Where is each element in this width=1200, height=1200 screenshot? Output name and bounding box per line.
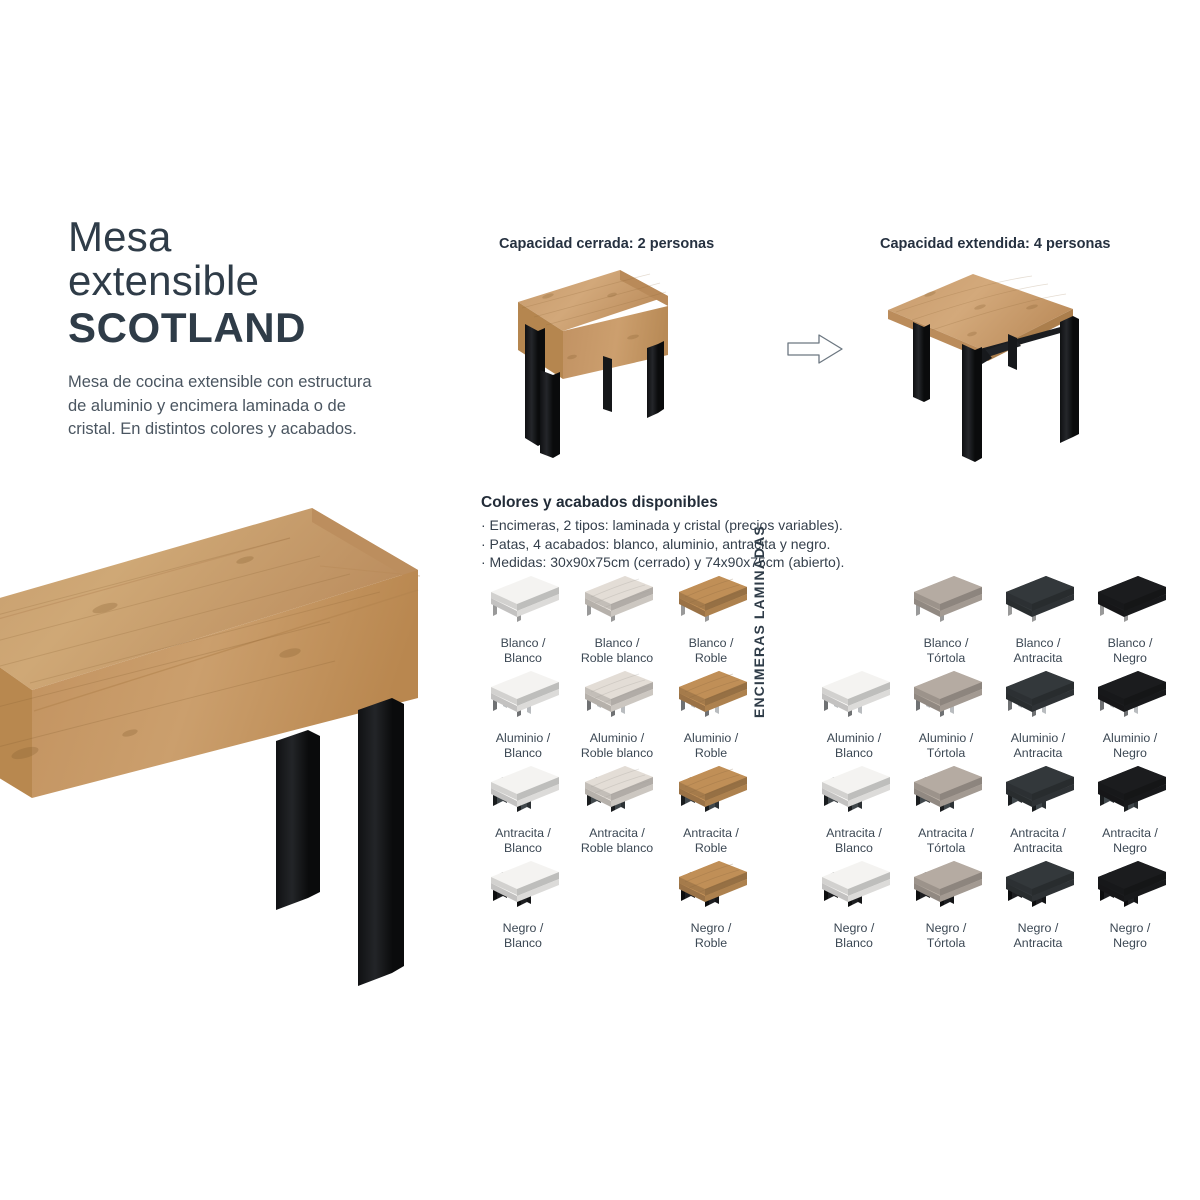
bullet-medidas: · Medidas: 30x90x75cm (cerrado) y 74x90x… [481,553,844,572]
arrow-right-icon [786,332,844,366]
finish-swatch[interactable]: Blanco / Blanco [481,570,565,665]
finish-label: Negro / Antracita [996,921,1080,950]
table-thumbnail-icon [487,570,559,632]
finish-label: Aluminio / Blanco [812,731,896,760]
table-thumbnail-icon [487,665,559,727]
finish-swatch[interactable]: Negro / Tórtola [904,855,988,950]
finish-label: Negro / Negro [1088,921,1172,950]
table-thumbnail-icon [1002,855,1074,917]
finish-label: Negro / Blanco [812,921,896,950]
finish-label: Antracita / Blanco [481,826,565,855]
finish-label: Blanco / Antracita [996,636,1080,665]
table-closed-illustration [500,262,750,477]
finish-label: Aluminio / Antracita [996,731,1080,760]
bullet-patas: · Patas, 4 acabados: blanco, aluminio, a… [481,535,844,554]
finish-label: Aluminio / Tórtola [904,731,988,760]
table-thumbnail-icon [1002,665,1074,727]
finish-swatch[interactable]: Negro / Negro [1088,855,1172,950]
finish-label: Blanco / Roble [669,636,753,665]
table-thumbnail-icon [581,665,653,727]
table-thumbnail-icon [910,855,982,917]
finish-swatch[interactable]: Blanco / Antracita [996,570,1080,665]
product-description: Mesa de cocina extensible con estructura… [68,371,388,442]
finish-swatch[interactable]: Aluminio / Roble [669,665,753,760]
table-thumbnail-icon [675,665,747,727]
finish-swatch[interactable]: Blanco / Roble blanco [575,570,659,665]
table-thumbnail-icon [1094,855,1166,917]
table-thumbnail-icon [487,855,559,917]
finish-label: Antracita / Roble [669,826,753,855]
title-line-3-model: SCOTLAND [68,303,448,353]
finish-label: Negro / Blanco [481,921,565,950]
finish-swatch[interactable]: Antracita / Blanco [812,760,896,855]
finish-swatch[interactable]: Negro / Antracita [996,855,1080,950]
table-thumbnail-icon [675,570,747,632]
bullet-encimeras: · Encimeras, 2 tipos: laminada y cristal… [481,516,844,535]
finish-swatch[interactable]: Antracita / Blanco [481,760,565,855]
table-thumbnail-icon [818,760,890,822]
finish-label: Aluminio / Negro [1088,731,1172,760]
table-thumbnail-icon [910,570,982,632]
table-thumbnail-icon [1002,570,1074,632]
title-line-1: Mesa [68,215,448,259]
table-thumbnail-icon [675,760,747,822]
finish-label: Antracita / Negro [1088,826,1172,855]
finish-label: Antracita / Tórtola [904,826,988,855]
finish-swatch[interactable]: Aluminio / Blanco [812,665,896,760]
finish-label: Negro / Roble [669,921,753,950]
finish-swatch[interactable]: Negro / Roble [669,855,753,950]
finish-label: Antracita / Roble blanco [575,826,659,855]
table-thumbnail-icon [1094,760,1166,822]
finish-swatch[interactable]: Antracita / Tórtola [904,760,988,855]
finish-swatch[interactable]: Aluminio / Tórtola [904,665,988,760]
finish-swatch[interactable]: Antracita / Negro [1088,760,1172,855]
finish-swatch[interactable]: Blanco / Negro [1088,570,1172,665]
finish-swatch[interactable]: Negro / Blanco [481,855,565,950]
hero-product-image [0,498,460,998]
encimeras-laminadas-label: ENCIMERAS LAMINADAS [751,525,767,718]
finish-swatch[interactable]: Antracita / Antracita [996,760,1080,855]
section-bullets: · Encimeras, 2 tipos: laminada y cristal… [481,516,844,572]
finish-label: Blanco / Roble blanco [575,636,659,665]
finish-label: Negro / Tórtola [904,921,988,950]
finish-swatch[interactable]: Negro / Blanco [812,855,896,950]
table-thumbnail-icon [1094,665,1166,727]
table-thumbnail-icon [1094,570,1166,632]
finish-label: Blanco / Negro [1088,636,1172,665]
table-thumbnail-icon [910,760,982,822]
table-thumbnail-icon [487,760,559,822]
table-thumbnail-icon [1002,760,1074,822]
finish-swatch[interactable]: Aluminio / Antracita [996,665,1080,760]
table-thumbnail-icon [818,665,890,727]
product-sheet: Mesa extensible SCOTLAND Mesa de cocina … [0,0,1200,1200]
finish-swatch[interactable]: Aluminio / Negro [1088,665,1172,760]
table-thumbnail-icon [581,570,653,632]
finish-swatch[interactable]: Antracita / Roble [669,760,753,855]
finish-label: Aluminio / Roble [669,731,753,760]
finish-label: Blanco / Tórtola [904,636,988,665]
finish-label: Antracita / Blanco [812,826,896,855]
table-extended-illustration [880,262,1130,477]
finish-swatch[interactable]: Blanco / Roble [669,570,753,665]
table-thumbnail-icon [581,760,653,822]
capacity-closed-caption: Capacidad cerrada: 2 personas [499,236,714,252]
finish-swatch[interactable]: Blanco / Tórtola [904,570,988,665]
finish-swatch[interactable]: Antracita / Roble blanco [575,760,659,855]
table-thumbnail-icon [675,855,747,917]
page-title: Mesa extensible SCOTLAND Mesa de cocina … [68,215,448,442]
table-thumbnail-icon [818,855,890,917]
finish-swatch[interactable]: Aluminio / Roble blanco [575,665,659,760]
finish-label: Antracita / Antracita [996,826,1080,855]
table-thumbnail-icon [910,665,982,727]
capacity-extended-caption: Capacidad extendida: 4 personas [880,236,1110,252]
finish-label: Aluminio / Roble blanco [575,731,659,760]
finish-label: Aluminio / Blanco [481,731,565,760]
section-heading: Colores y acabados disponibles [481,494,718,512]
finish-swatch[interactable]: Aluminio / Blanco [481,665,565,760]
title-line-2: extensible [68,259,448,303]
finish-label: Blanco / Blanco [481,636,565,665]
